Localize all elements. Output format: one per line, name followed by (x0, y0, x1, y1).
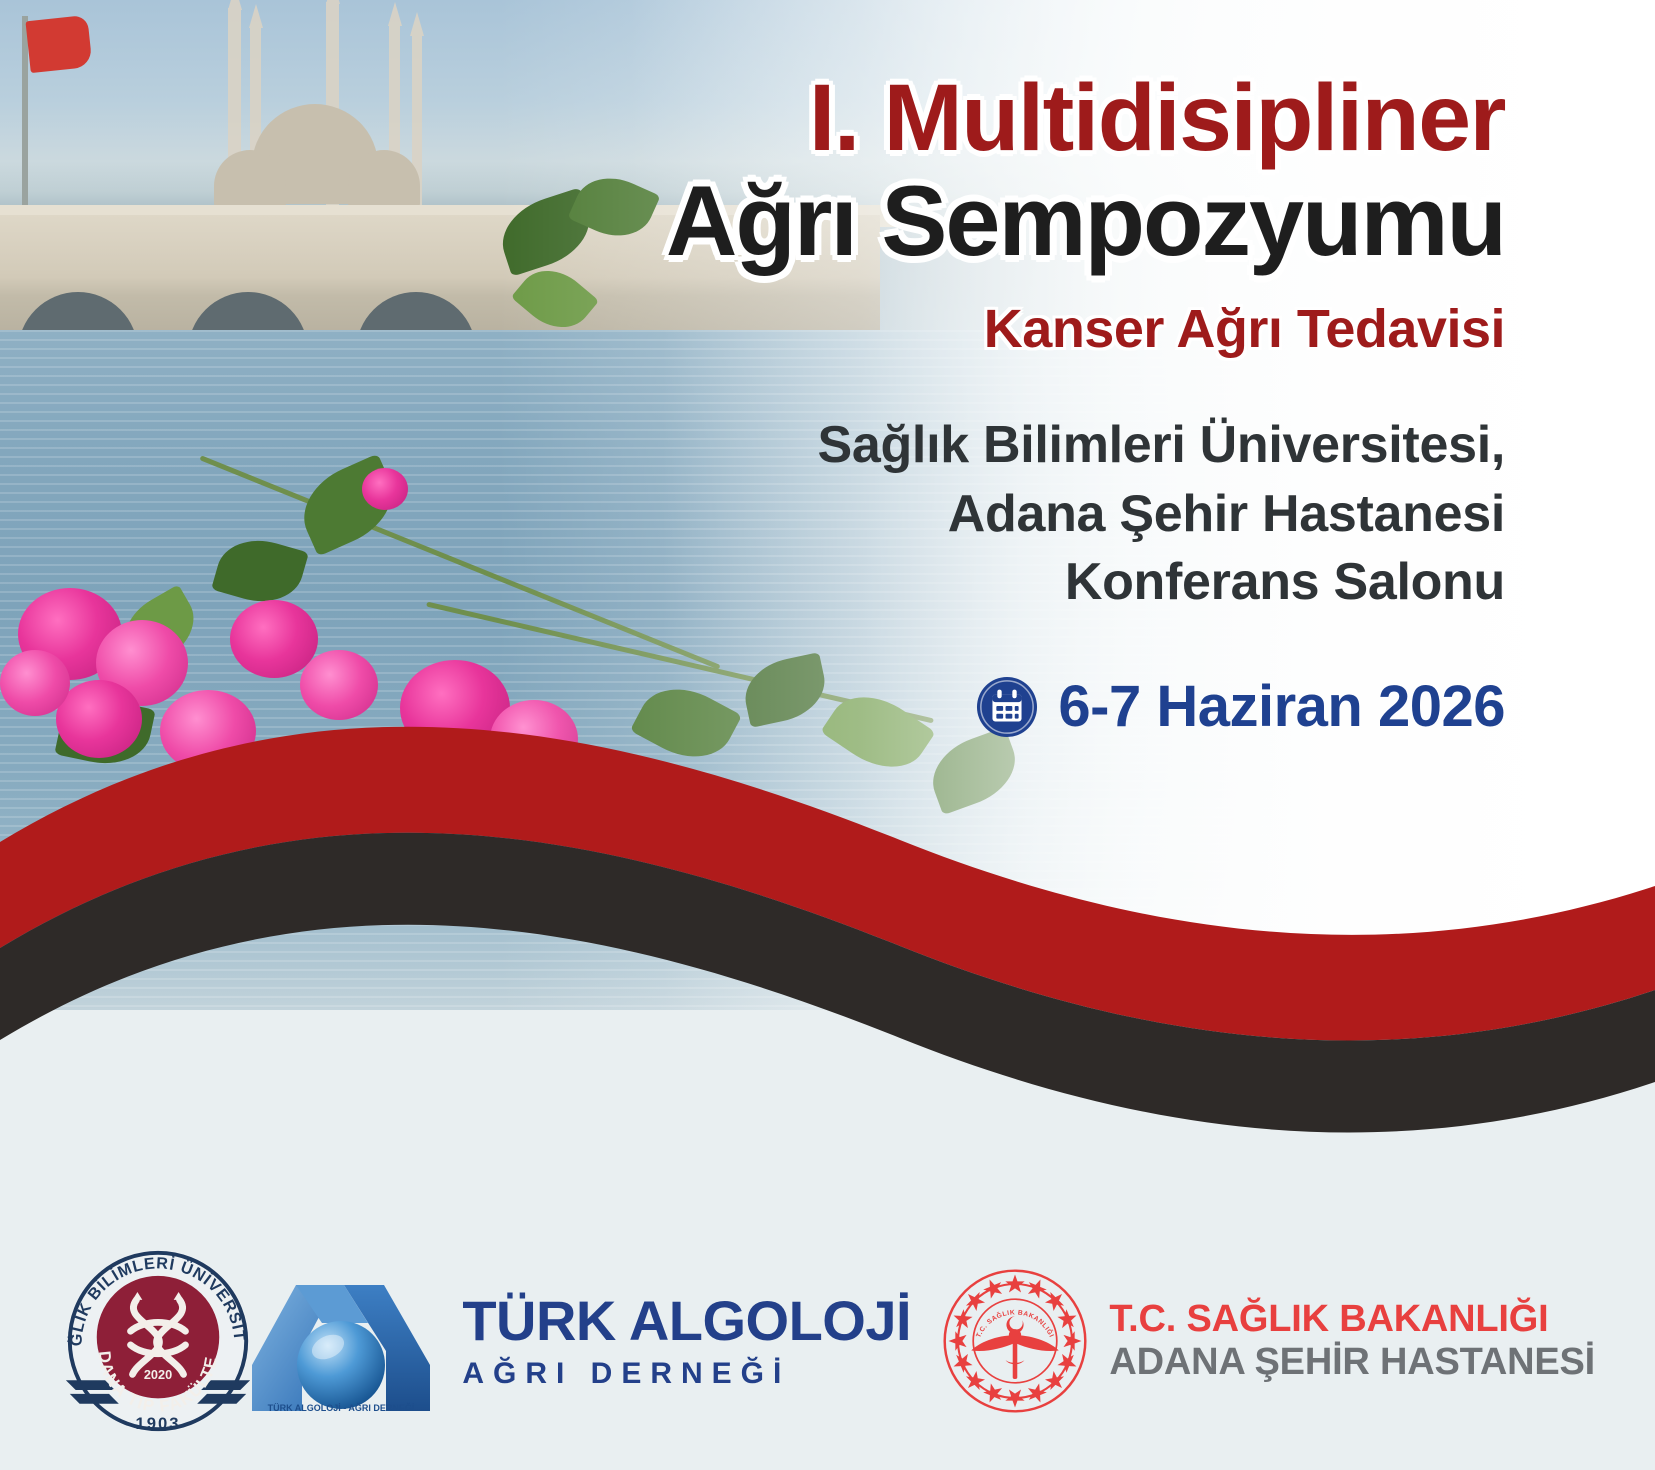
venue-line-3: Konferans Salonu (475, 548, 1505, 617)
sponsor-logo-band: SAĞLIK BİLİMLERİ ÜNİVERSİTESİ ADANA TIP … (0, 1230, 1655, 1470)
venue-line-1: Sağlık Bilimleri Üniversitesi, (475, 411, 1505, 480)
saglik-bilimleri-universitesi-seal: SAĞLIK BİLİMLERİ ÜNİVERSİTESİ ADANA TIP … (60, 1243, 256, 1439)
poster-text-block: I. Multidisipliner Ağrı Sempozyumu Kanse… (475, 70, 1505, 740)
ministry-wordmark: T.C. SAĞLIK BAKANLIĞI ADANA ŞEHİR HASTAN… (1109, 1298, 1595, 1383)
event-date-row: 6-7 Haziran 2026 (475, 673, 1505, 740)
algoloji-mark-text: TÜRK ALGOLOJİ - AĞRI DERNEĞİ (268, 1402, 415, 1413)
calendar-icon (976, 676, 1038, 738)
venue-line-2: Adana Şehir Hastanesi (475, 480, 1505, 549)
ministry-name-line2: ADANA ŞEHİR HASTANESİ (1109, 1341, 1595, 1384)
algoloji-name-line2: AĞRI DERNEĞİ (462, 1359, 911, 1389)
algoloji-name-line1: TÜRK ALGOLOJİ (462, 1293, 911, 1349)
university-logo: SAĞLIK BİLİMLERİ ÜNİVERSİTESİ ADANA TIP … (60, 1243, 256, 1439)
venue-block: Sağlık Bilimleri Üniversitesi, Adana Şeh… (475, 411, 1505, 617)
ministry-name-line1: T.C. SAĞLIK BAKANLIĞI (1109, 1298, 1595, 1341)
algoloji-wordmark: TÜRK ALGOLOJİ AĞRI DERNEĞİ (462, 1293, 911, 1389)
event-date: 6-7 Haziran 2026 (1058, 673, 1505, 740)
tc-saglik-bakanligi-seal-icon: T.C. SAĞLIK BAKANLIĞI (939, 1265, 1091, 1417)
page-title-line1: I. Multidisipliner (475, 70, 1505, 167)
seal-year-outer: 1903 (136, 1414, 181, 1433)
wave-decoration (0, 690, 1655, 1250)
page-title-line2: Ağrı Sempozyumu (475, 169, 1505, 274)
algoloji-logo: TÜRK ALGOLOJİ - AĞRI DERNEĞİ TÜRK ALGOLO… (244, 1261, 911, 1421)
ministry-logo: T.C. SAĞLIK BAKANLIĞI T.C. SAĞLIK BAKANL… (939, 1265, 1595, 1417)
event-poster: I. Multidisipliner Ağrı Sempozyumu Kanse… (0, 0, 1655, 1470)
seal-year-inner: 2020 (144, 1367, 172, 1382)
poster-subtitle: Kanser Ağrı Tedavisi (475, 300, 1505, 359)
turk-algoloji-mark-icon: TÜRK ALGOLOJİ - AĞRI DERNEĞİ (244, 1261, 444, 1421)
